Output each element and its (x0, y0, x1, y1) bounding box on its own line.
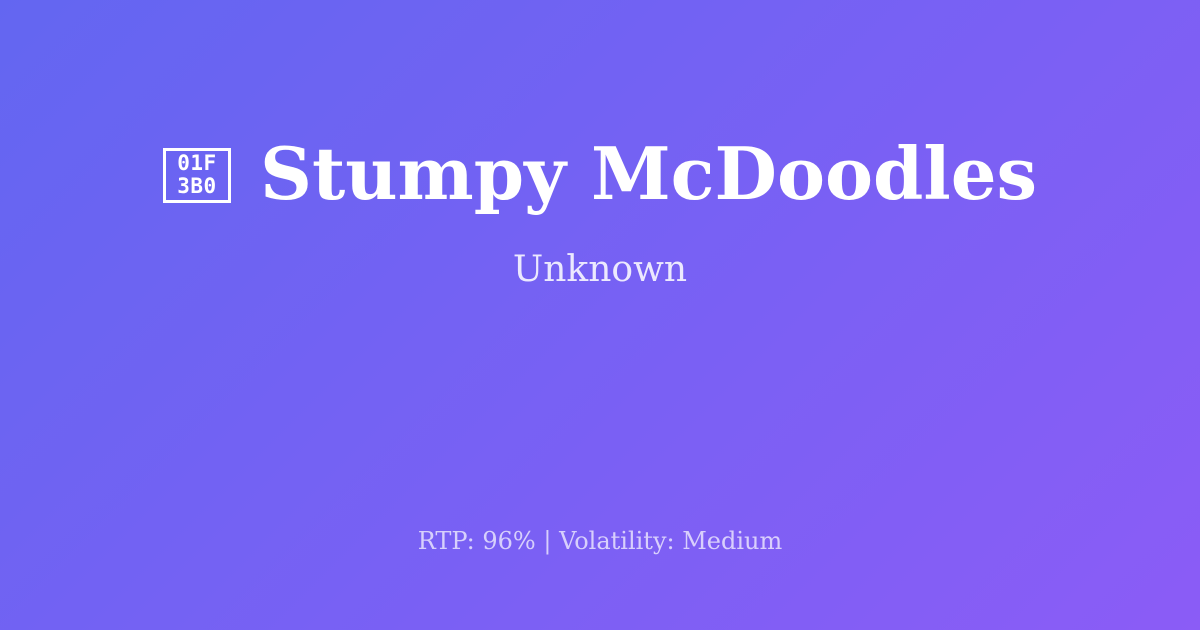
page-title: 01F 3B0 Stumpy McDoodles (163, 138, 1037, 210)
game-provider: Unknown (513, 252, 687, 288)
tofu-codepoint-top: 01F (177, 152, 216, 175)
title-block: 01F 3B0 Stumpy McDoodles Unknown (0, 0, 1200, 500)
game-title-text: Stumpy McDoodles (260, 138, 1037, 210)
tofu-codepoint-bottom: 3B0 (177, 175, 216, 198)
game-preview-card: 01F 3B0 Stumpy McDoodles Unknown RTP: 96… (0, 0, 1200, 630)
slot-machine-icon: 01F 3B0 (163, 148, 231, 203)
game-stats-line: RTP: 96% | Volatility: Medium (0, 529, 1200, 553)
